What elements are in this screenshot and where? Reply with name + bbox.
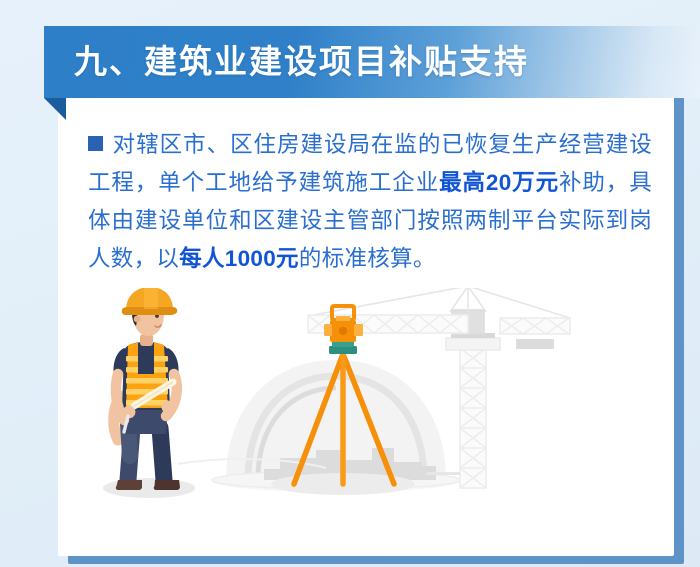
highlight-max-subsidy: 最高20万元: [439, 170, 559, 195]
page-title: 九、建筑业建设项目补贴支持: [74, 26, 529, 98]
construction-worker-icon: [113, 288, 180, 490]
policy-paragraph: 对辖区市、区住房建设局在监的已恢复生产经营建设工程，单个工地给予建筑施工企业最高…: [88, 126, 652, 278]
content-body: 对辖区市、区住房建设局在监的已恢复生产经营建设工程，单个工地给予建筑施工企业最高…: [88, 126, 652, 278]
construction-illustration: [58, 288, 674, 528]
header-ribbon: 九、建筑业建设项目补贴支持: [44, 26, 700, 98]
ribbon-fold-corner: [44, 98, 66, 120]
content-card: 对辖区市、区住房建设局在监的已恢复生产经营建设工程，单个工地给予建筑施工企业最高…: [58, 70, 674, 556]
highlight-per-person: 每人1000元: [179, 246, 299, 271]
paragraph-part-3: 的标准核算。: [299, 246, 436, 271]
poster-root: 对辖区市、区住房建设局在监的已恢复生产经营建设工程，单个工地给予建筑施工企业最高…: [0, 0, 700, 567]
bullet-square-icon: [88, 136, 103, 151]
